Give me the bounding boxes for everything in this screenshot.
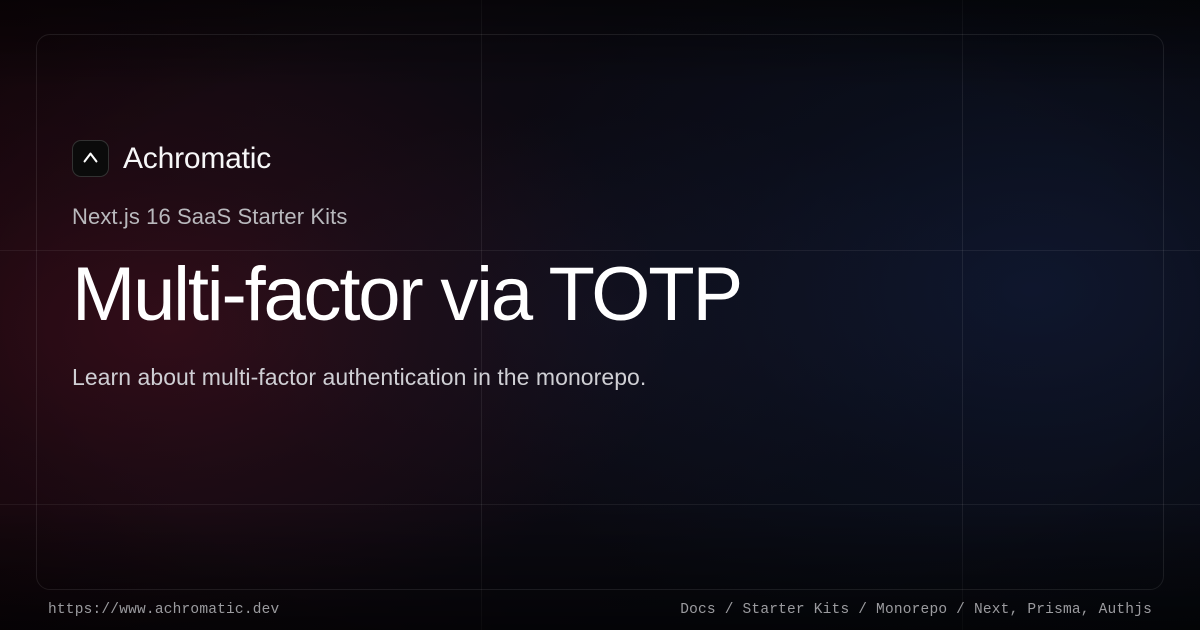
brand-name: Achromatic: [123, 144, 271, 174]
breadcrumb: Docs / Starter Kits / Monorepo / Next, P…: [680, 602, 1152, 619]
footer: https://www.achromatic.dev Docs / Starte…: [48, 602, 1152, 619]
content-area: Achromatic Next.js 16 SaaS Starter Kits …: [72, 0, 1128, 630]
brand-lockup: Achromatic: [72, 140, 271, 177]
footer-url: https://www.achromatic.dev: [48, 602, 279, 619]
eyebrow-text: Next.js 16 SaaS Starter Kits: [72, 203, 347, 232]
page-subtitle: Learn about multi-factor authentication …: [72, 362, 646, 393]
page-title: Multi-factor via TOTP: [72, 255, 741, 336]
og-image-card: Achromatic Next.js 16 SaaS Starter Kits …: [0, 0, 1200, 630]
chevron-up-icon: [72, 140, 109, 177]
